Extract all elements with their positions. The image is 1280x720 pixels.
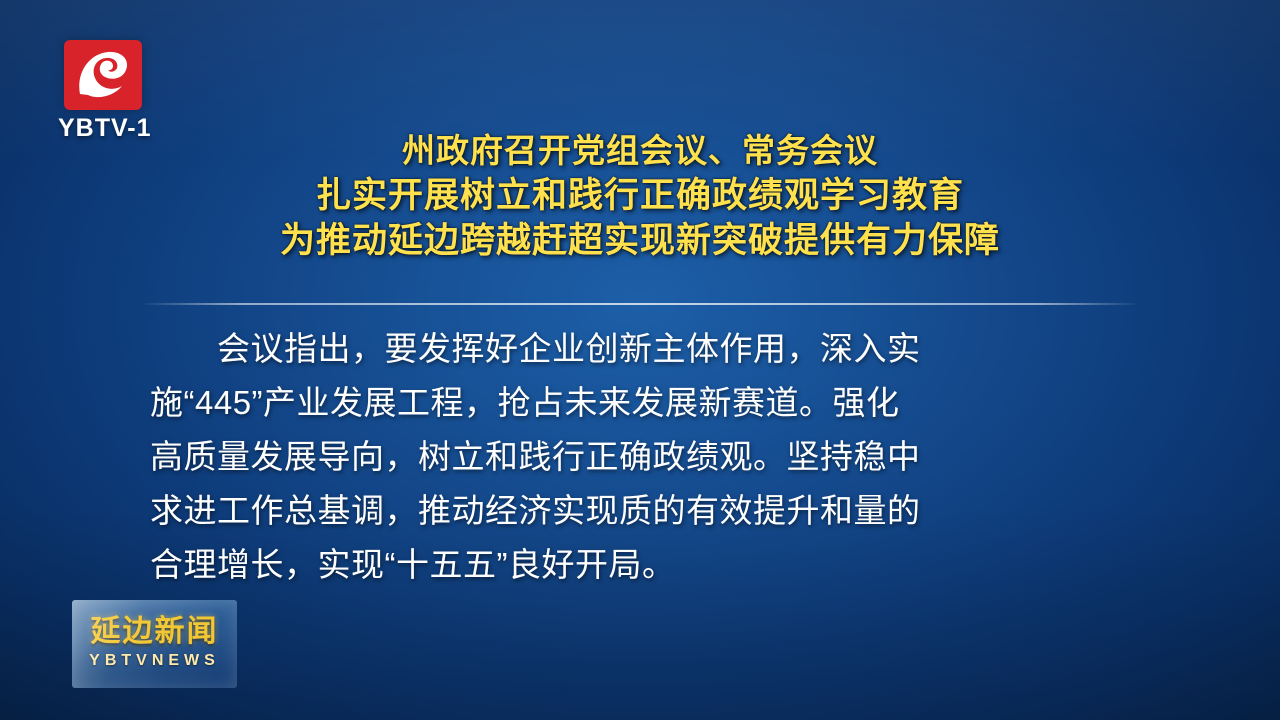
program-bug-title-cn: 延边新闻 (72, 606, 237, 650)
body-line-2: 施“445”产业发展工程，抢占未来发展新赛道。强化 (150, 376, 1135, 430)
headline-line-1: 州政府召开党组会议、常务会议 (0, 128, 1280, 173)
ybtv-swirl-logo-icon (64, 40, 142, 110)
headline-line-2: 扎实开展树立和践行正确政绩观学习教育 (0, 173, 1280, 218)
headline-line-3: 为推动延边跨越赶超实现新突破提供有力保障 (0, 218, 1280, 263)
broadcast-screen: YBTV-1 州政府召开党组会议、常务会议 扎实开展树立和践行正确政绩观学习教育… (0, 0, 1280, 720)
body-line-3: 高质量发展导向，树立和践行正确政绩观。坚持稳中 (150, 430, 1135, 484)
body-line-4: 求进工作总基调，推动经济实现质的有效提升和量的 (150, 484, 1135, 538)
headline-divider (140, 303, 1140, 305)
body-copy-block: 会议指出，要发挥好企业创新主体作用，深入实 施“445”产业发展工程，抢占未来发… (150, 322, 1135, 592)
headline-block: 州政府召开党组会议、常务会议 扎实开展树立和践行正确政绩观学习教育 为推动延边跨… (0, 128, 1280, 263)
channel-callsign: YBTV-1 (58, 114, 178, 143)
swirl-glyph-icon (74, 48, 130, 100)
channel-logo: YBTV-1 (58, 40, 178, 145)
body-line-1: 会议指出，要发挥好企业创新主体作用，深入实 (150, 322, 1135, 376)
body-line-5: 合理增长，实现“十五五”良好开局。 (150, 538, 1135, 592)
program-bug-title-en: YBTVNEWS (72, 652, 237, 670)
program-bug: 延边新闻 YBTVNEWS (72, 600, 237, 688)
